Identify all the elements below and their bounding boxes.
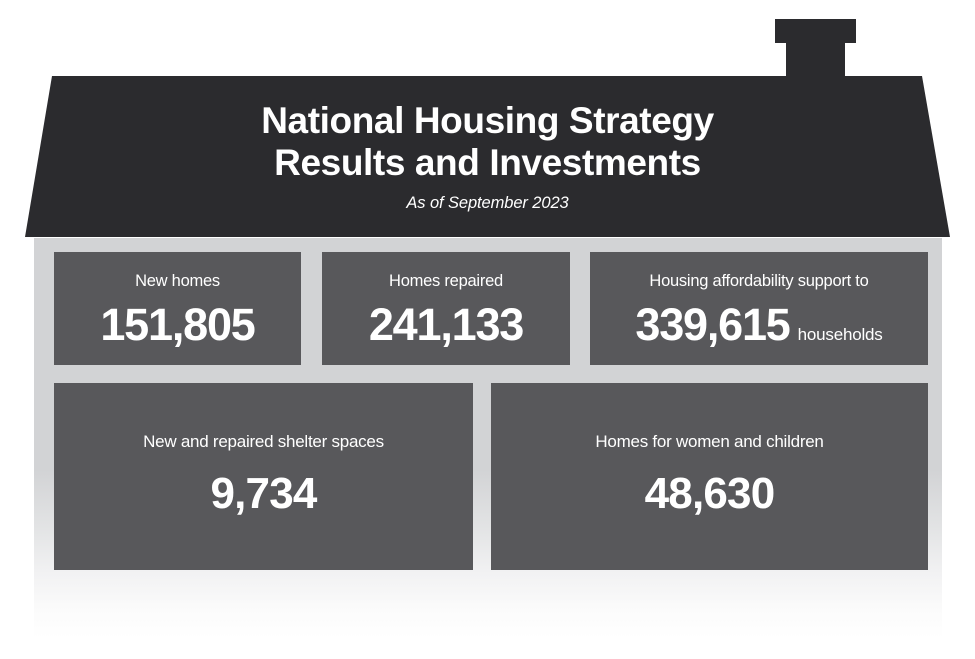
stat-card-housing-affordability-support: Housing affordability support to 339,615…: [590, 252, 928, 365]
stat-label-new-homes: New homes: [135, 272, 220, 292]
stat-card-homes-women-children: Homes for women and children 48,630: [491, 383, 928, 570]
stat-label-housing-affordability-support: Housing affordability support to: [649, 272, 868, 292]
stat-label-shelter-spaces: New and repaired shelter spaces: [143, 432, 384, 452]
page-title-line-2: Results and Investments: [274, 142, 701, 183]
stat-value-housing-affordability-support: 339,615: [635, 302, 789, 347]
stat-value-homes-repaired: 241,133: [369, 302, 523, 347]
infographic-canvas: National Housing Strategy Results and In…: [0, 0, 975, 659]
header-text-block: National Housing Strategy Results and In…: [0, 76, 975, 237]
page-subtitle: As of September 2023: [406, 194, 568, 213]
stat-label-homes-repaired: Homes repaired: [389, 272, 503, 292]
stat-label-homes-women-children: Homes for women and children: [595, 432, 823, 452]
stat-card-shelter-spaces: New and repaired shelter spaces 9,734: [54, 383, 473, 570]
stat-value-new-homes: 151,805: [100, 302, 254, 347]
stat-card-homes-repaired: Homes repaired 241,133: [322, 252, 570, 365]
stat-card-new-homes: New homes 151,805: [54, 252, 301, 365]
stat-value-row-shelter-spaces: 9,734: [210, 472, 316, 516]
stat-value-row-homes-repaired: 241,133: [369, 302, 523, 347]
stat-value-row-homes-women-children: 48,630: [645, 472, 775, 516]
stat-value-row-new-homes: 151,805: [100, 302, 254, 347]
stat-value-row-housing-affordability-support: 339,615 households: [635, 302, 882, 347]
stat-suffix-housing-affordability-support: households: [798, 325, 883, 345]
stat-value-shelter-spaces: 9,734: [210, 472, 316, 516]
stat-value-homes-women-children: 48,630: [645, 472, 775, 516]
page-title-line-1: National Housing Strategy: [261, 100, 714, 141]
